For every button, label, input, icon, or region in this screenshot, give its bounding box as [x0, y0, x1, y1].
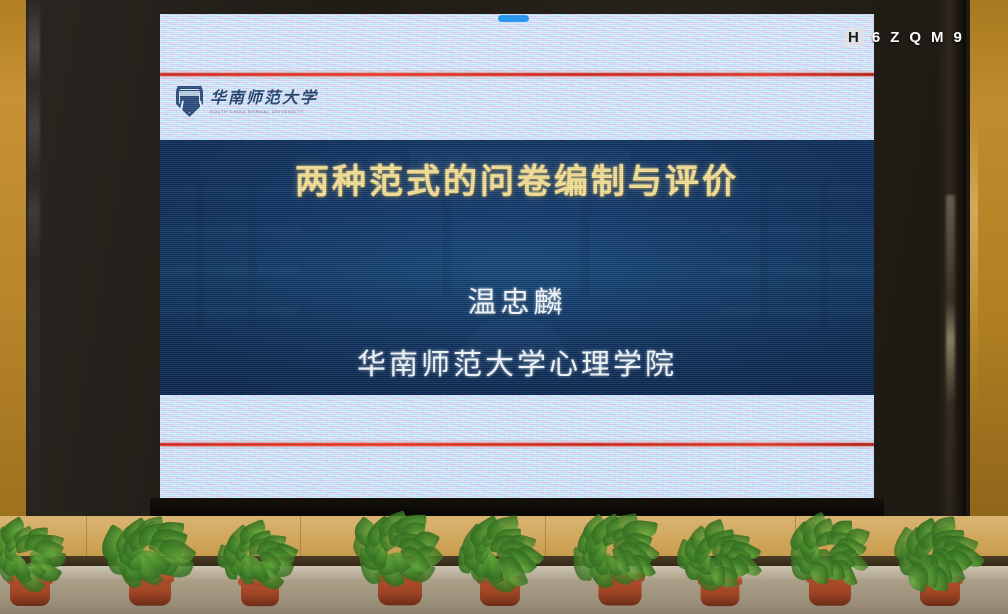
potted-plant	[780, 507, 881, 612]
housing-right-glint	[946, 195, 955, 495]
watermark-char: Q	[909, 29, 922, 46]
potted-plant	[568, 504, 672, 612]
plant-foliage	[892, 514, 988, 588]
plant-foliage	[100, 509, 201, 587]
slide-title: 两种范式的问卷编制与评价	[160, 154, 874, 203]
watermark-char: M	[931, 29, 945, 46]
slide-author: 温忠麟	[160, 279, 874, 321]
plant-foliage	[214, 519, 305, 589]
potted-plant	[100, 507, 201, 612]
rule-bottom	[160, 443, 874, 446]
plant-foliage	[780, 509, 881, 587]
potted-plant	[0, 512, 78, 612]
plant-foliage	[347, 504, 453, 585]
watermark-char: Z	[890, 29, 900, 46]
university-logo: 华南师范大学 SOUTH CHINA NORMAL UNIVERSITY	[176, 86, 318, 117]
potted-plant	[347, 502, 453, 612]
plant-foliage	[452, 514, 548, 588]
watermark-char: 9	[954, 29, 963, 46]
plant-foliage	[673, 517, 766, 589]
led-screen[interactable]: 华南师范大学 SOUTH CHINA NORMAL UNIVERSITY	[160, 14, 874, 506]
potted-plant	[892, 512, 988, 612]
housing-left-highlight	[28, 0, 40, 528]
potted-plant	[214, 517, 305, 612]
shield-icon	[176, 86, 203, 117]
wall-seam	[86, 516, 87, 560]
slide-affiliation: 华南师范大学心理学院	[160, 341, 874, 383]
rule-top	[160, 73, 874, 76]
screenshot-root: 华南师范大学 SOUTH CHINA NORMAL UNIVERSITY	[0, 0, 1008, 614]
university-logo-chinese: 华南师范大学	[210, 90, 318, 106]
watermark-char: H	[845, 28, 863, 47]
potted-plant	[673, 515, 766, 612]
plant-foliage	[0, 514, 78, 588]
slide-content-band: 两种范式的问卷编制与评价 温忠麟 华南师范大学心理学院	[160, 140, 874, 395]
university-logo-english: SOUTH CHINA NORMAL UNIVERSITY	[210, 109, 318, 114]
potted-plant	[452, 512, 548, 612]
top-blue-marker	[498, 15, 529, 22]
watermark: H6ZQM9	[845, 28, 963, 47]
plant-foliage	[568, 506, 672, 586]
watermark-char: 6	[872, 29, 881, 46]
